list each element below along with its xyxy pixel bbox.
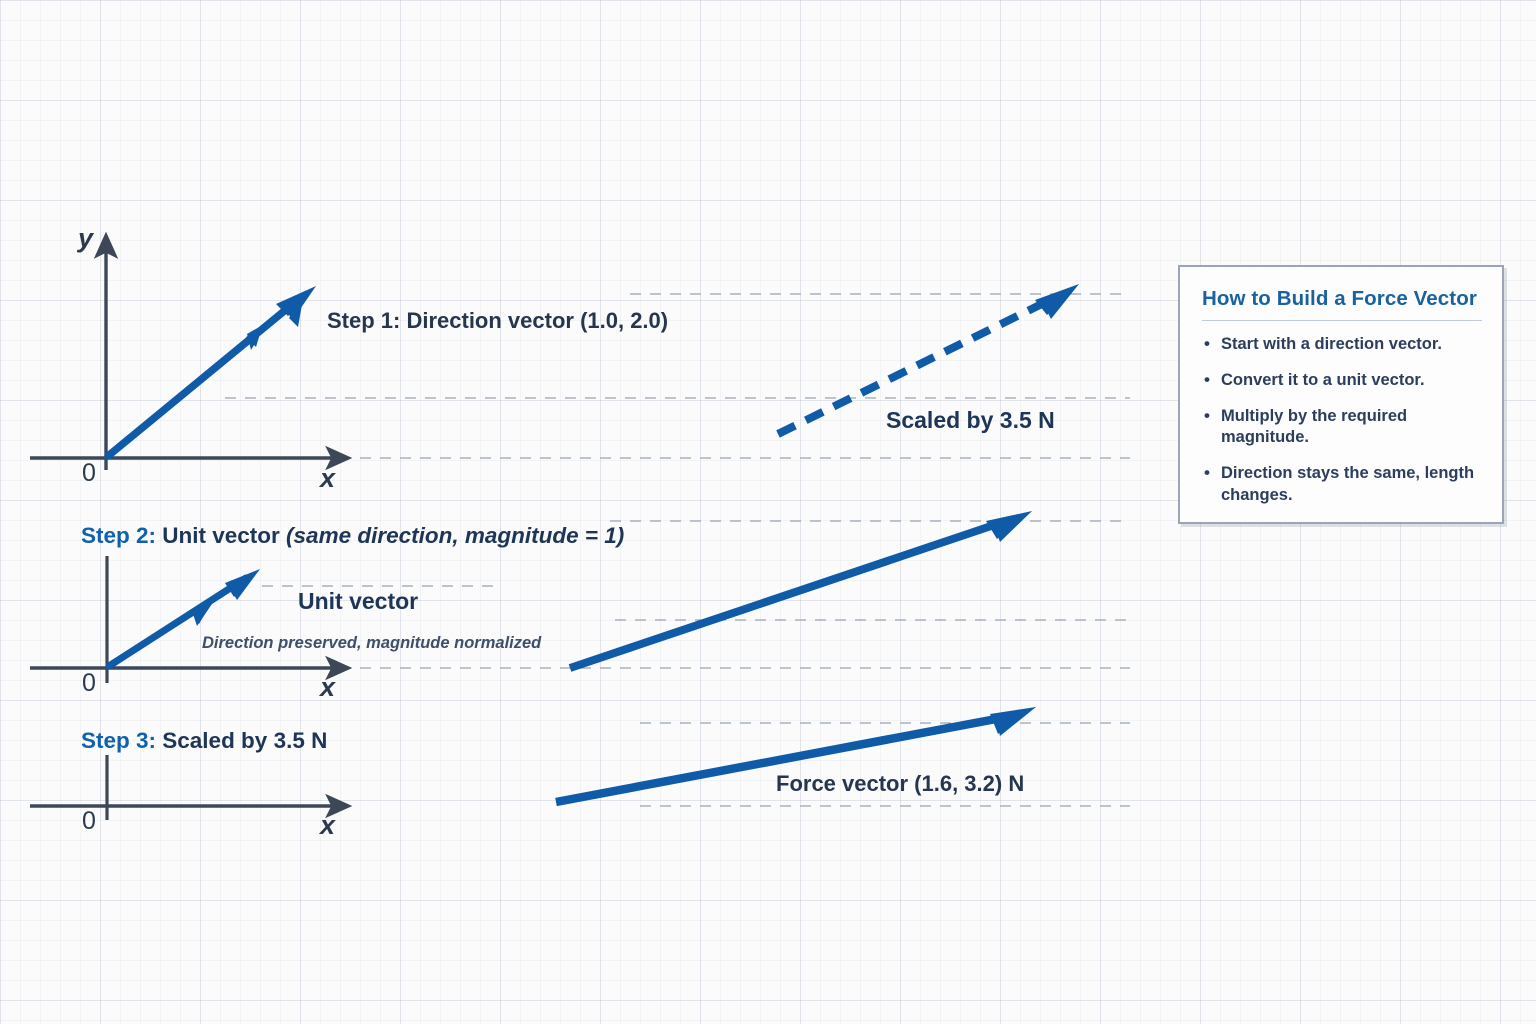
x-axis-label-step2: x bbox=[320, 673, 335, 703]
step3-heading-rest: Scaled by 3.5 N bbox=[156, 728, 327, 753]
axes-step1 bbox=[30, 248, 336, 470]
direction-vector bbox=[108, 286, 316, 456]
y-axis-label-step1: y bbox=[78, 224, 93, 254]
diagram-canvas: y x 0 Step 1: Direction vector (1.0, 2.0… bbox=[0, 0, 1536, 1024]
origin-label-step3: 0 bbox=[82, 808, 96, 836]
step1-annotation: Step 1: Direction vector (1.0, 2.0) bbox=[327, 309, 668, 333]
scaled-vector-label: Scaled by 3.5 N bbox=[886, 408, 1055, 433]
step3-heading: Step 3: Scaled by 3.5 N bbox=[81, 729, 327, 754]
unit-vector-subnote: Direction preserved, magnitude normalize… bbox=[202, 634, 541, 652]
guide-lines bbox=[225, 294, 1130, 806]
x-axis-label-step3: x bbox=[320, 811, 335, 841]
step2-heading-number: Step 2: bbox=[81, 523, 156, 548]
list-item: Direction stays the same, length changes… bbox=[1202, 463, 1482, 507]
force-vector-label: Force vector (1.6, 3.2) N bbox=[776, 772, 1024, 796]
list-item: Start with a direction vector. bbox=[1202, 334, 1482, 356]
info-card-title: How to Build a Force Vector bbox=[1202, 287, 1482, 311]
axes-step3 bbox=[30, 755, 336, 820]
info-card: How to Build a Force Vector Start with a… bbox=[1178, 265, 1504, 524]
step2-heading: Step 2: Unit vector (same direction, mag… bbox=[81, 524, 624, 549]
info-card-list: Start with a direction vector. Convert i… bbox=[1202, 334, 1482, 507]
origin-label-step2: 0 bbox=[82, 670, 96, 698]
step2-heading-italic: (same direction, magnitude = 1) bbox=[286, 523, 624, 548]
info-card-divider bbox=[1202, 320, 1482, 321]
x-axis-label-step1: x bbox=[320, 464, 335, 494]
step2-heading-rest: Unit vector bbox=[156, 523, 286, 548]
list-item: Multiply by the required magnitude. bbox=[1202, 406, 1482, 450]
unit-vector-extended bbox=[570, 511, 1032, 668]
list-item: Convert it to a unit vector. bbox=[1202, 370, 1482, 392]
step3-heading-number: Step 3: bbox=[81, 728, 156, 753]
unit-vector-label: Unit vector bbox=[298, 589, 418, 614]
origin-label-step1: 0 bbox=[82, 460, 96, 488]
